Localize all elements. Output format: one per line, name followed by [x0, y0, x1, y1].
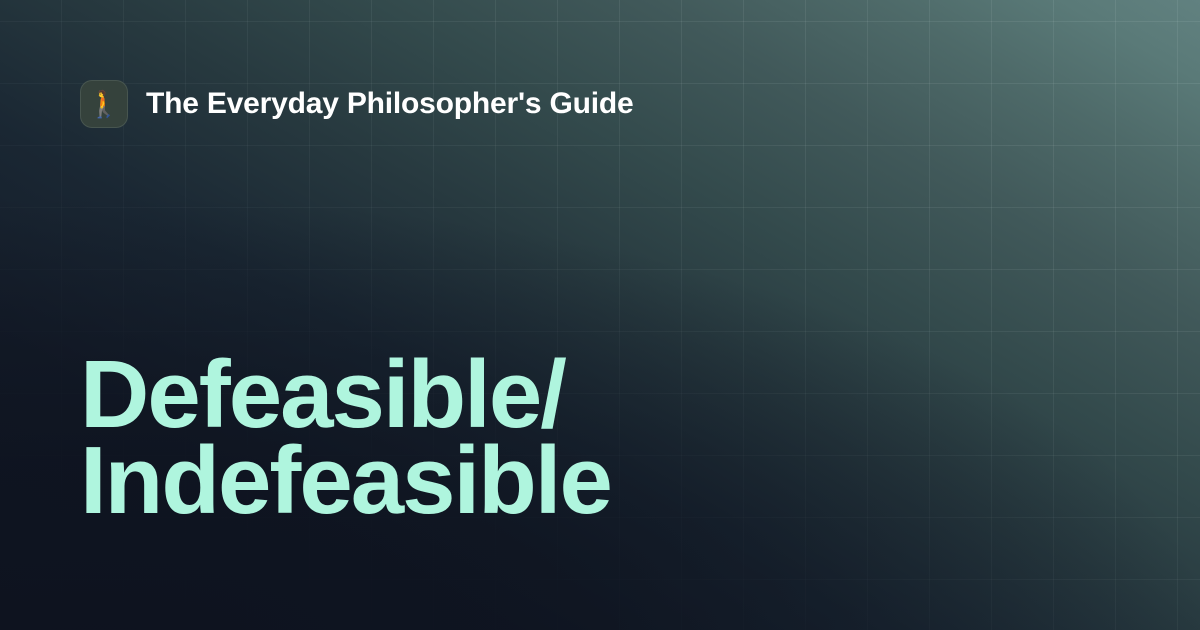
brand-title: The Everyday Philosopher's Guide: [146, 87, 634, 121]
brand-header: 🚶 The Everyday Philosopher's Guide: [80, 80, 634, 128]
page-title-line-1: Defeasible/: [80, 352, 1080, 438]
walking-person-icon: 🚶: [80, 80, 128, 128]
page-title: Defeasible/ Indefeasible: [80, 352, 1080, 524]
page-title-line-2: Indefeasible: [80, 438, 1080, 524]
social-share-card: 🚶 The Everyday Philosopher's Guide Defea…: [0, 0, 1200, 630]
